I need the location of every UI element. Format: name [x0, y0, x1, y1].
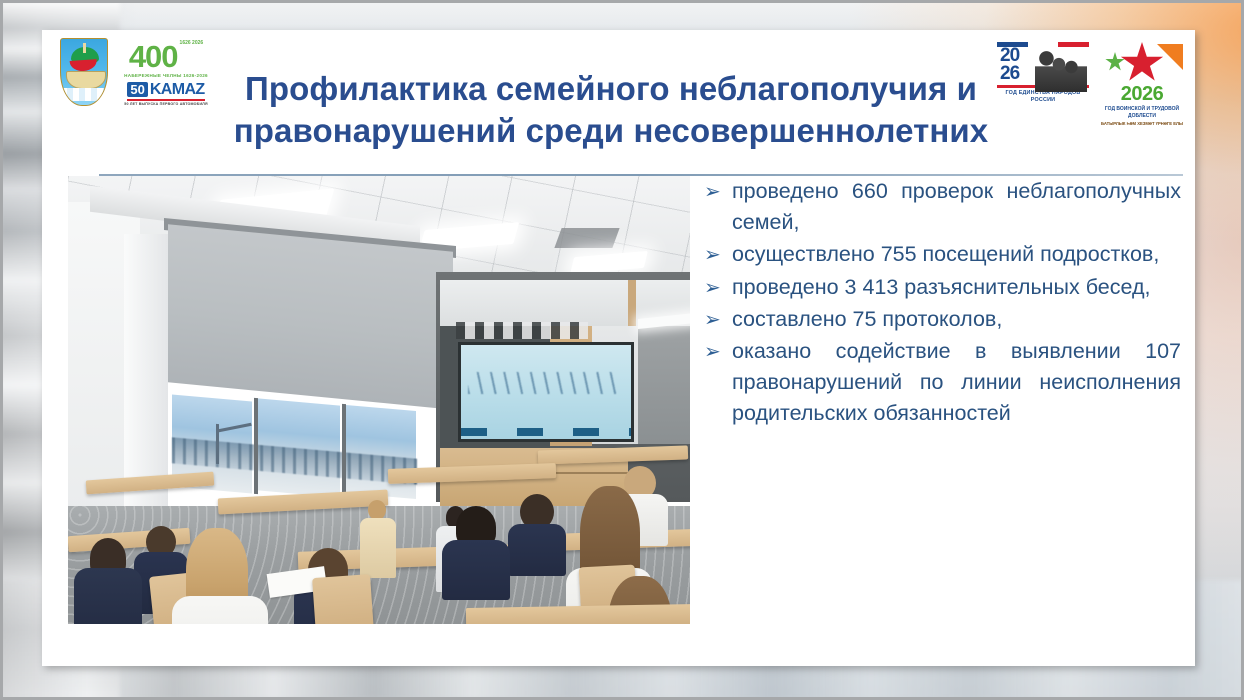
- list-item-text: составлено 75 протоколов,: [732, 304, 1181, 335]
- statistics-bullet-list: ➢ проведено 660 проверок неблагополучных…: [704, 176, 1181, 430]
- kamaz-caption: 50 ЛЕТ ВЫПУСКА ПЕРВОГО АВТОМОБИЛЯ: [124, 102, 208, 106]
- left-logo-group: 400 1626 2026 НАБЕРЕЖНЫЕ ЧЕЛНЫ 1626-2026…: [60, 38, 218, 106]
- anniversary-badge: 1626 2026: [180, 41, 204, 46]
- list-item: ➢ осуществлено 755 посещений подростков,: [704, 239, 1181, 270]
- presentation-slide: 400 1626 2026 НАБЕРЕЖНЫЕ ЧЕЛНЫ 1626-2026…: [42, 30, 1195, 666]
- right-logo-group: 20 26 ГОД ЕДИНСТВА НАРОДОВ РОССИИ 2026 Г…: [997, 38, 1185, 126]
- list-item: ➢ проведено 660 проверок неблагополучных…: [704, 176, 1181, 238]
- list-item-text: проведено 3 413 разъяснительных бесед,: [732, 272, 1181, 303]
- kamaz-years: 50: [127, 82, 147, 97]
- arrow-bullet-icon: ➢: [704, 272, 732, 302]
- chair: [312, 574, 374, 624]
- slide-body: ➢ проведено 660 проверок неблагополучных…: [42, 148, 1195, 648]
- valour-caption: ГОД ВОИНСКОЙ И ТРУДОВОЙ ДОБЛЕСТИ: [1099, 106, 1185, 120]
- green-star-icon: [1105, 52, 1125, 72]
- list-item: ➢ составлено 75 протоколов,: [704, 304, 1181, 335]
- people-silhouette-icon: [1035, 44, 1087, 92]
- list-item: ➢ проведено 3 413 разъяснительных бесед,: [704, 272, 1181, 303]
- classroom-photo: [68, 176, 690, 624]
- arrow-bullet-icon: ➢: [704, 176, 732, 206]
- kamaz-logo: 50 KAMAZ: [127, 82, 204, 98]
- valour-subcaption: БАТЫРЛЫК ҺӘМ ХЕЗМӘТ ҮРНӘГЕ ЕЛЫ: [1099, 121, 1185, 127]
- list-item-text: проведено 660 проверок неблагополучных с…: [732, 176, 1181, 238]
- anniversary-number: 400: [129, 41, 178, 72]
- list-item-text: осуществлено 755 посещений подростков,: [732, 239, 1181, 270]
- teacher-assistant: [368, 500, 386, 520]
- kamaz-wordmark: KAMAZ: [150, 82, 205, 98]
- page-title: Профилактика семейного неблагополучия и …: [202, 68, 1020, 152]
- window: [346, 405, 416, 499]
- anniversary-caption: НАБЕРЕЖНЫЕ ЧЕЛНЫ 1626-2026: [124, 73, 208, 79]
- valour-year-number: 2026: [1099, 84, 1185, 104]
- school-desk: [466, 604, 690, 624]
- arrow-bullet-icon: ➢: [704, 239, 732, 269]
- window-blind: [168, 224, 453, 409]
- ceiling-vent: [554, 228, 619, 248]
- kamaz-underline: [127, 99, 205, 101]
- year-of-valour-logo: 2026 ГОД ВОИНСКОЙ И ТРУДОВОЙ ДОБЛЕСТИ БА…: [1099, 38, 1185, 126]
- slide-header: 400 1626 2026 НАБЕРЕЖНЫЕ ЧЕЛНЫ 1626-2026…: [42, 30, 1195, 148]
- coat-of-arms-icon: [60, 38, 108, 106]
- arrow-bullet-icon: ➢: [704, 336, 732, 366]
- star-icon: [1120, 42, 1164, 84]
- list-item-text: оказано содействие в выявлении 107 право…: [732, 336, 1181, 430]
- list-item: ➢ оказано содействие в выявлении 107 пра…: [704, 336, 1181, 430]
- arrow-bullet-icon: ➢: [704, 304, 732, 334]
